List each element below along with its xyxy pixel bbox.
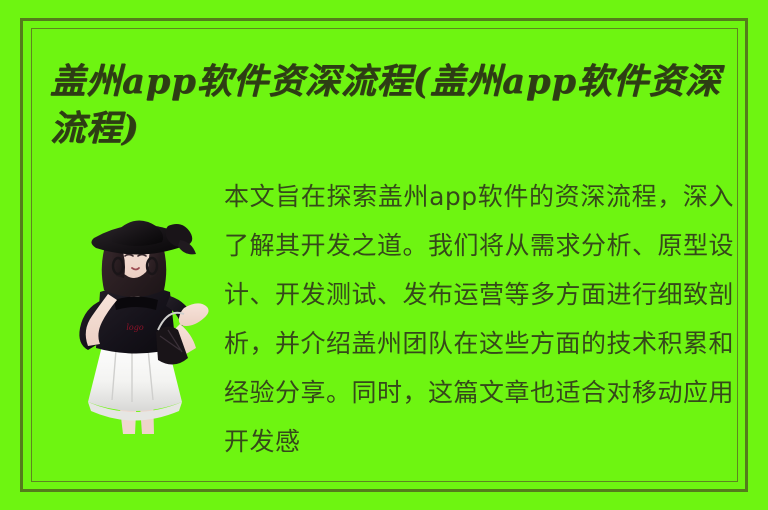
page-title-text: 盖州app软件资深流程(盖州app软件资深流程) (50, 58, 736, 152)
article-body: 本文旨在探索盖州app软件的资深流程，深入了解其开发之道。我们将从需求分析、原型… (224, 172, 734, 466)
poster-canvas: 盖州app软件资深流程(盖州app软件资深流程) (0, 0, 768, 510)
hat-crown (111, 221, 163, 246)
anime-girl-illustration: logo (44, 196, 224, 440)
page-title: 盖州app软件资深流程(盖州app软件资深流程) (50, 58, 736, 152)
illustration-artwork: logo (44, 196, 224, 440)
article-paragraph: 本文旨在探索盖州app软件的资深流程，深入了解其开发之道。我们将从需求分析、原型… (224, 172, 734, 466)
top-logo-text: logo (126, 323, 143, 332)
